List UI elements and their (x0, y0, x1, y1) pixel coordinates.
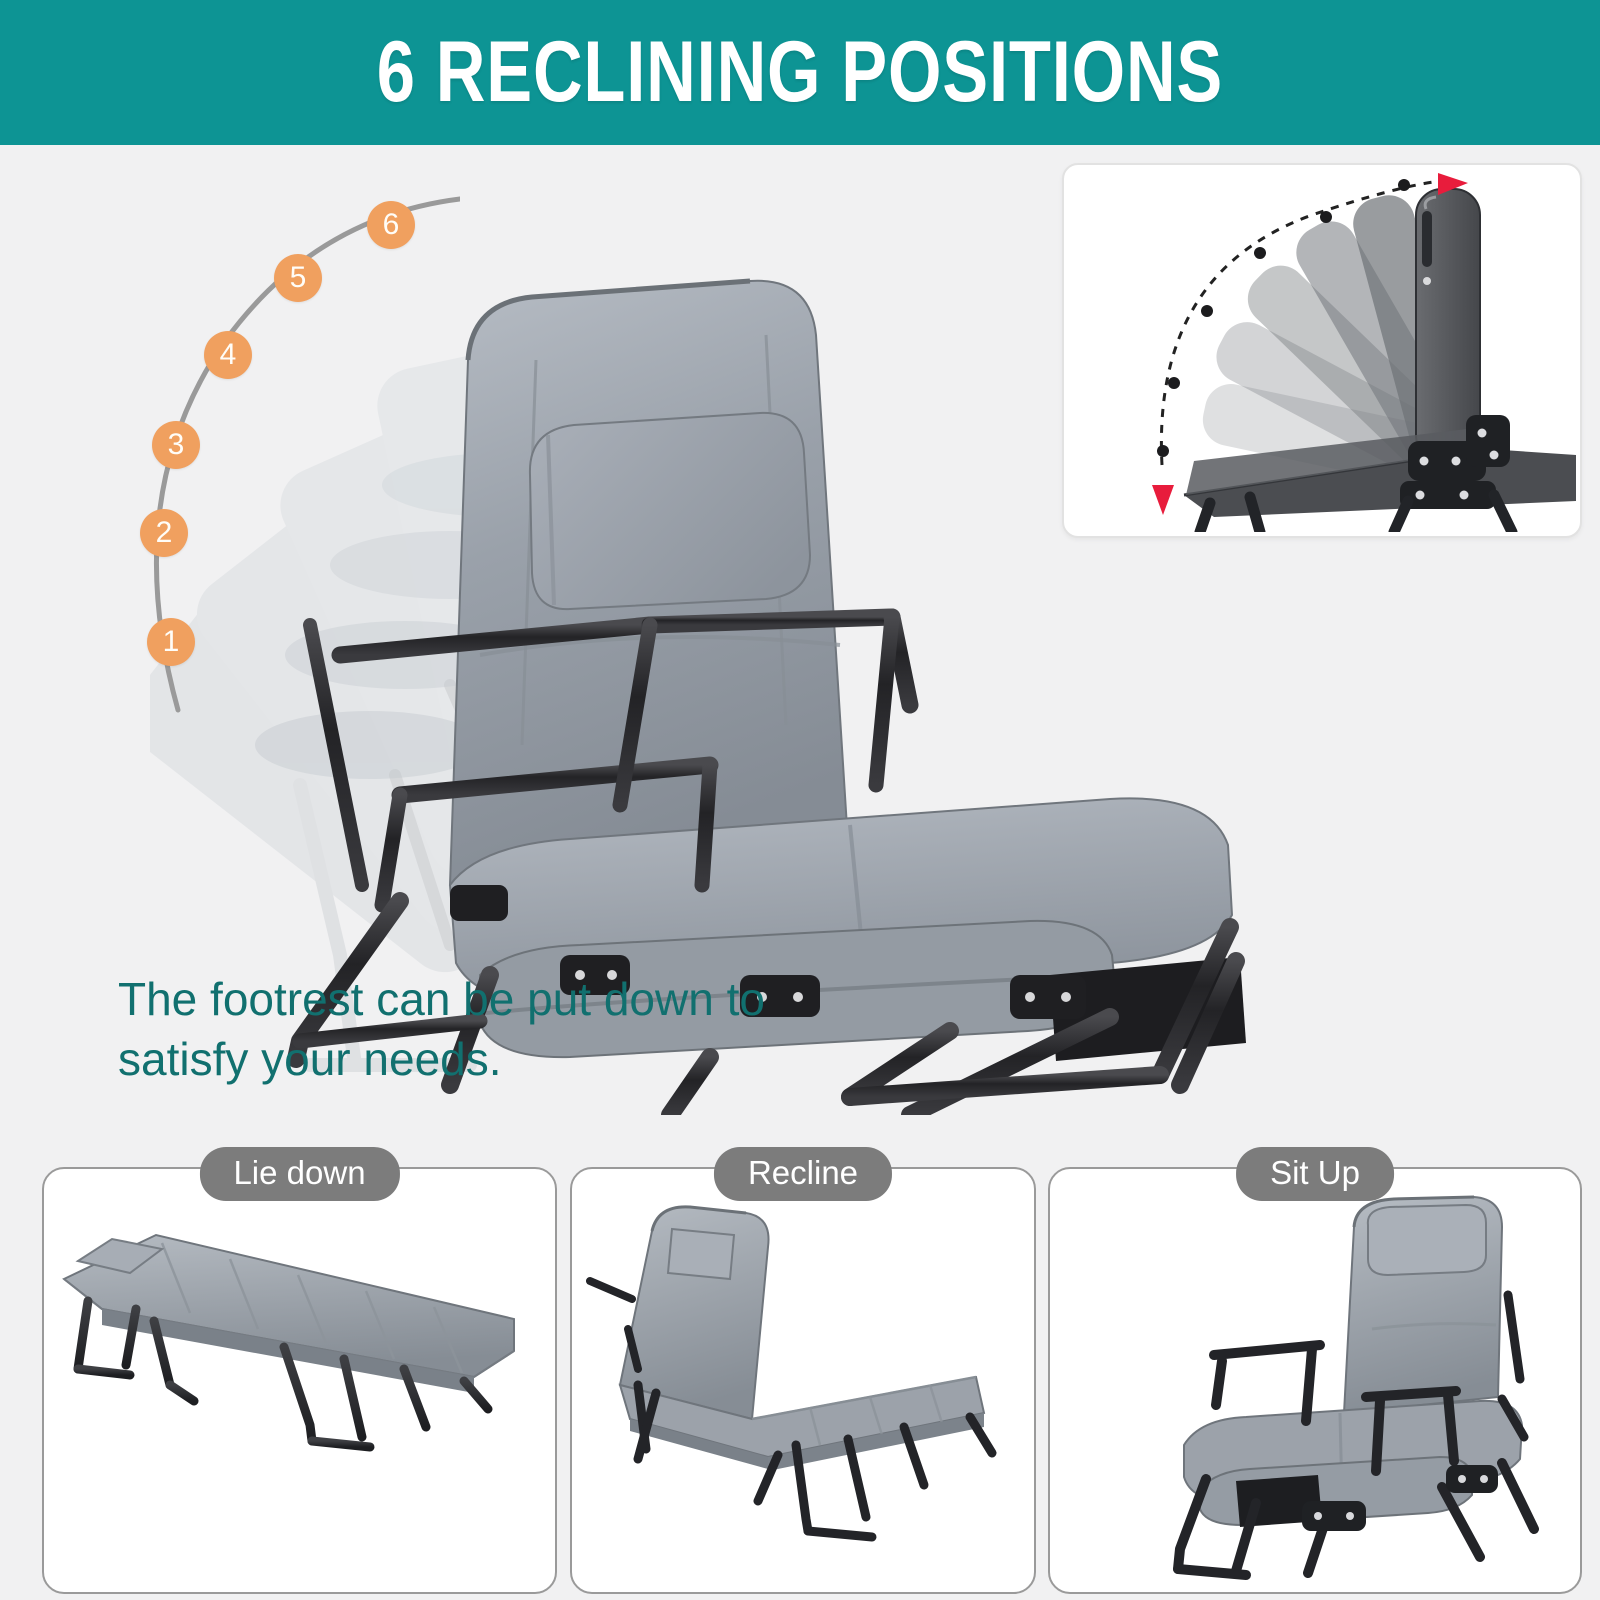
position-card-lie-down[interactable]: Lie down (42, 1167, 557, 1594)
caption-line-2: satisfy your needs. (118, 1030, 818, 1090)
main-product-stage: 1 2 3 4 5 6 (0, 145, 1600, 1130)
sit-up-image (1050, 1169, 1580, 1592)
position-marker-3-label: 3 (168, 428, 185, 462)
position-cards-row: Lie down (0, 1155, 1600, 1600)
caption-line-1: The footrest can be put down to (118, 970, 818, 1030)
position-card-sit-up-label: Sit Up (1236, 1147, 1394, 1201)
position-marker-1-label: 1 (163, 625, 180, 659)
position-card-sit-up[interactable]: Sit Up (1048, 1167, 1582, 1594)
position-card-recline-label: Recline (714, 1147, 892, 1201)
position-marker-6: 6 (367, 201, 415, 249)
position-card-recline[interactable]: Recline (570, 1167, 1036, 1594)
position-marker-1: 1 (147, 618, 195, 666)
header-banner: 6 RECLINING POSITIONS (0, 0, 1600, 145)
arrow-down-icon (1152, 485, 1174, 515)
recline-image (572, 1169, 1034, 1592)
recline-range-inset-card (1062, 163, 1582, 538)
position-card-lie-down-label: Lie down (199, 1147, 399, 1201)
position-marker-2: 2 (140, 509, 188, 557)
page-title: 6 RECLINING POSITIONS (377, 23, 1223, 122)
position-marker-2-label: 2 (156, 516, 173, 550)
position-marker-5-label: 5 (290, 261, 307, 295)
position-marker-5: 5 (274, 254, 322, 302)
position-marker-6-label: 6 (383, 208, 400, 242)
lie-down-image (44, 1169, 555, 1592)
recline-position-arc: 1 2 3 4 5 6 (60, 165, 460, 725)
position-marker-4: 4 (204, 331, 252, 379)
position-marker-3: 3 (152, 421, 200, 469)
position-marker-4-label: 4 (220, 338, 237, 372)
footrest-caption: The footrest can be put down to satisfy … (118, 970, 818, 1090)
